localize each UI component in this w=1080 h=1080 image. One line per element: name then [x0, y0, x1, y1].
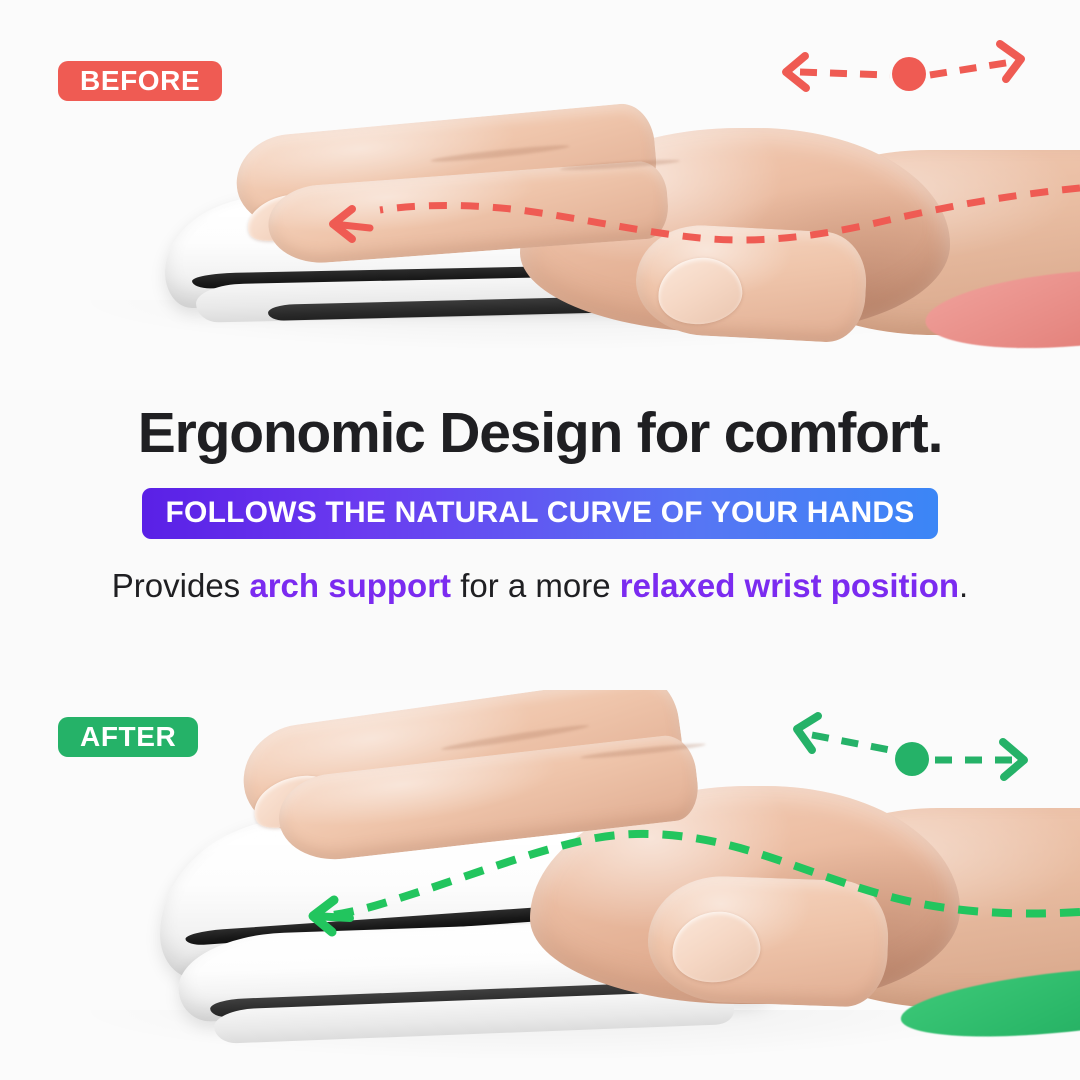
description-line: Provides arch support for a more relaxed…	[0, 566, 1080, 606]
sub-bar-wrapper: FOLLOWS THE NATURAL CURVE OF YOUR HANDS	[0, 464, 1080, 539]
ergonomic-comparison-poster: BEFORE AFTER Ergonomic Design for comfor…	[0, 0, 1080, 1080]
before-photo-panel	[0, 0, 1080, 390]
description-highlight-1: arch support	[249, 567, 451, 604]
badge-after-label: AFTER	[80, 721, 176, 753]
description-part-3: .	[959, 567, 968, 604]
center-text-block: Ergonomic Design for comfort. FOLLOWS TH…	[0, 404, 1080, 605]
sub-headline-bar: FOLLOWS THE NATURAL CURVE OF YOUR HANDS	[142, 488, 939, 539]
badge-before[interactable]: BEFORE	[58, 61, 222, 101]
badge-before-label: BEFORE	[80, 65, 200, 97]
description-part-1: Provides	[112, 567, 250, 604]
description-part-2: for a more	[451, 567, 620, 604]
badge-after[interactable]: AFTER	[58, 717, 198, 757]
description-highlight-2: relaxed wrist position	[620, 567, 959, 604]
page-title: Ergonomic Design for comfort.	[0, 404, 1080, 464]
